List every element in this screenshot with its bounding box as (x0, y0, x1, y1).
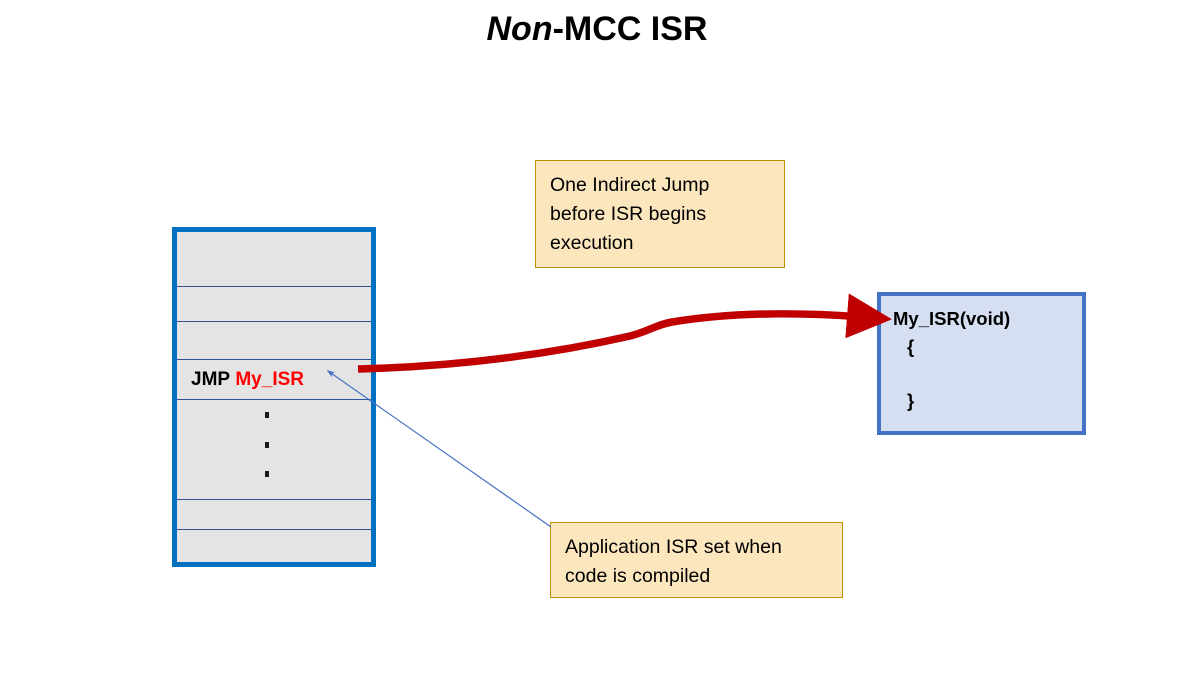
page-title: Non-MCC ISR (0, 10, 1194, 49)
ellipsis-dot (265, 442, 269, 448)
isr-signature: My_ISR(void) (893, 308, 1010, 330)
isr-open-brace: { (907, 336, 914, 358)
table-row (177, 322, 371, 360)
slide-canvas: Non-MCC ISR JMP My_ISR My_ISR(void) { } … (0, 0, 1194, 690)
callout-line: code is compiled (565, 562, 830, 591)
callout-line: One Indirect Jump (550, 171, 772, 200)
jmp-instruction: JMP My_ISR (191, 369, 304, 391)
table-row (177, 500, 371, 530)
jmp-opcode: JMP (191, 369, 230, 390)
ellipsis-dot (265, 471, 269, 477)
ellipsis-dot (265, 412, 269, 418)
table-row-ellipsis (177, 400, 371, 500)
page-title-rest: -MCC ISR (553, 10, 708, 48)
table-row (177, 530, 371, 562)
page-title-emphasis: Non (487, 10, 553, 48)
isr-function-box: My_ISR(void) { } (877, 292, 1086, 435)
jmp-target-symbol: My_ISR (235, 369, 304, 390)
table-row (177, 287, 371, 322)
callout-line: execution (550, 229, 772, 258)
isr-close-brace: } (907, 390, 914, 412)
red-jump-arrow (358, 314, 862, 369)
table-row (177, 232, 371, 287)
table-row-jmp: JMP My_ISR (177, 360, 371, 400)
callout-line: before ISR begins (550, 200, 772, 229)
callout-indirect-jump: One Indirect Jump before ISR begins exec… (535, 160, 785, 268)
callout-line: Application ISR set when (565, 533, 830, 562)
interrupt-vector-table: JMP My_ISR (172, 227, 376, 567)
callout-application-isr: Application ISR set when code is compile… (550, 522, 843, 598)
